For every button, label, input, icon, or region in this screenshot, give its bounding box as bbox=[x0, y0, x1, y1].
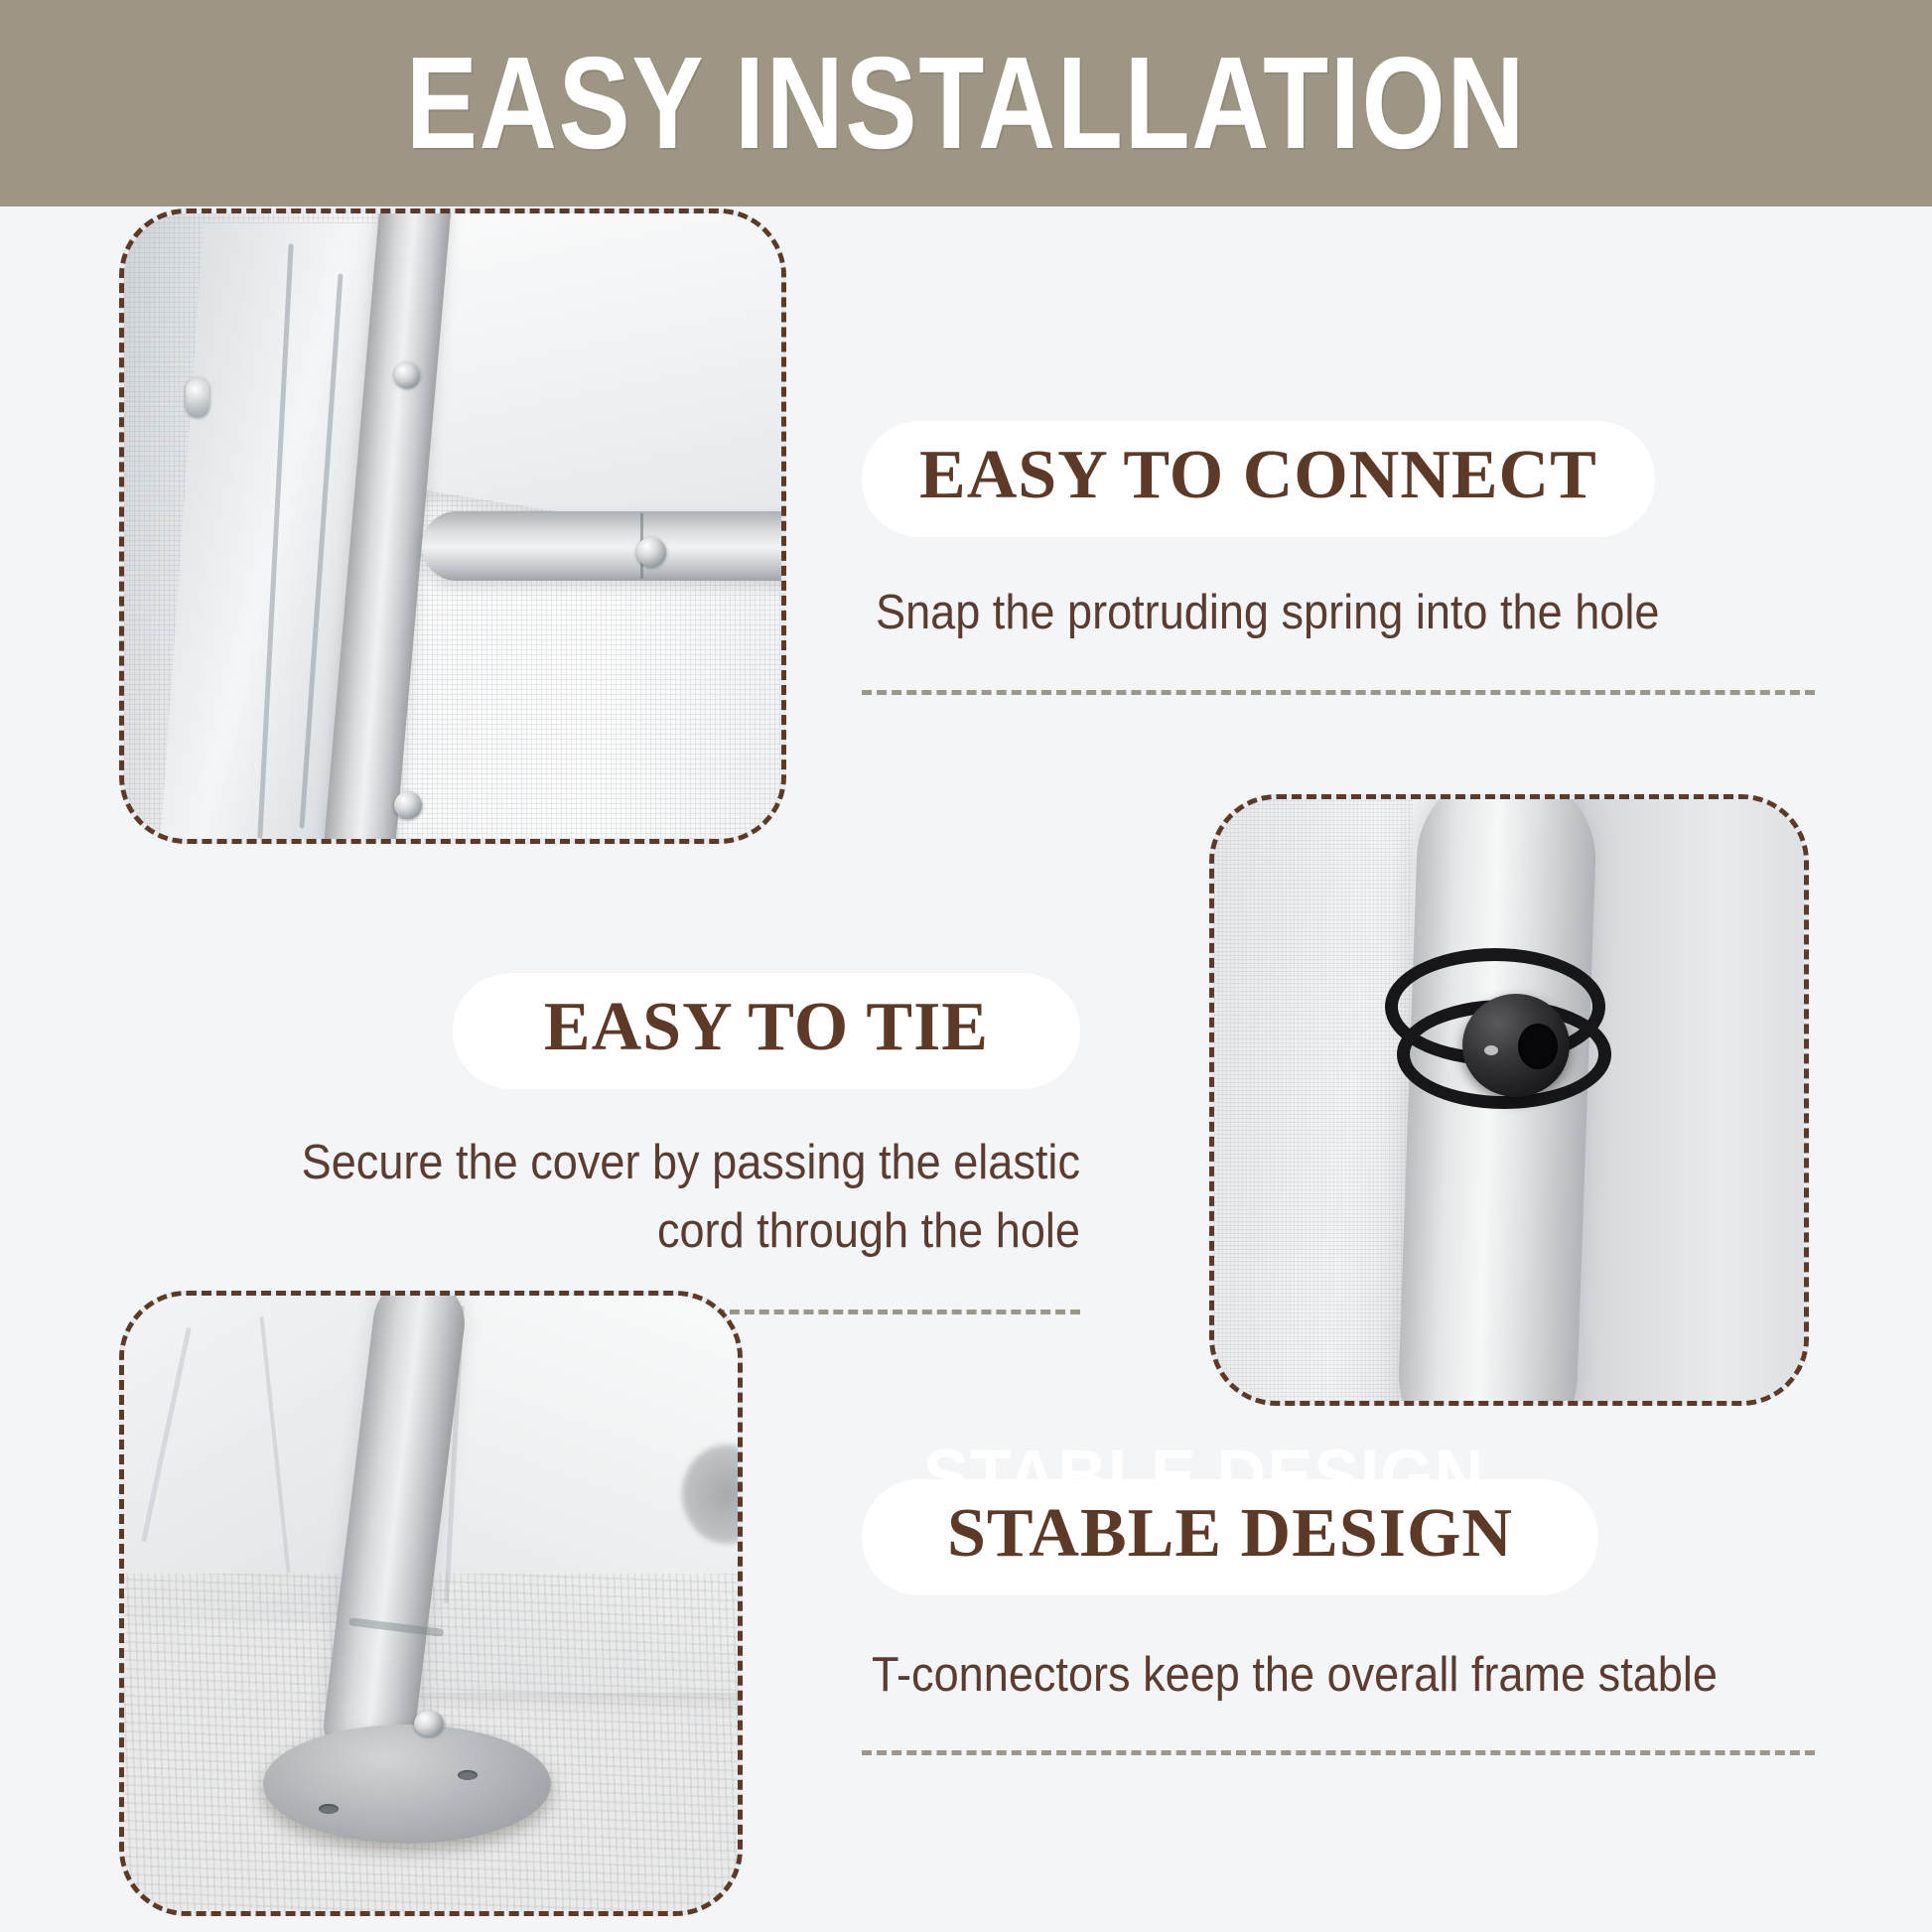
heading-pill-stable-design: STABLE DESIGN bbox=[862, 1479, 1598, 1594]
page-title: EASY INSTALLATION bbox=[406, 38, 1526, 169]
feature-description-line-2: cord through the hole bbox=[240, 1200, 1080, 1263]
section-divider bbox=[862, 1750, 1815, 1755]
background-shade bbox=[1572, 799, 1809, 1401]
photo-panel-easy-to-tie bbox=[1209, 794, 1809, 1406]
heading-pill-easy-to-connect: EASY TO CONNECT bbox=[862, 421, 1655, 536]
pole-foot-photo bbox=[124, 1296, 738, 1911]
feature-block-easy-to-tie: EASY TO TIE Secure the cover by passing … bbox=[167, 973, 1080, 1314]
base-plate-bolt-hole bbox=[458, 1770, 478, 1780]
cord-ball-toggle bbox=[1462, 994, 1570, 1097]
header-banner: EASY INSTALLATION bbox=[0, 0, 1932, 207]
heading-pill-easy-to-tie: EASY TO TIE bbox=[453, 973, 1080, 1088]
base-plate bbox=[263, 1725, 551, 1844]
toggle-highlight bbox=[1484, 1045, 1498, 1055]
photo-panel-easy-to-connect bbox=[119, 208, 786, 844]
screw-icon bbox=[394, 791, 422, 819]
feature-heading: STABLE DESIGN bbox=[947, 1499, 1513, 1569]
feature-heading: EASY TO CONNECT bbox=[919, 441, 1597, 510]
clip-fitting bbox=[186, 377, 209, 417]
feature-description: Snap the protruding spring into the hole bbox=[876, 582, 1758, 644]
section-divider bbox=[862, 690, 1815, 695]
horizontal-frame-pole bbox=[422, 511, 786, 581]
tarp-fabric-background bbox=[1214, 799, 1413, 1401]
infographic-page: EASY INSTALLATION EASY TO CONNECT Snap t… bbox=[0, 0, 1932, 1932]
photo-panel-stable-design bbox=[119, 1291, 743, 1916]
feature-description: T-connectors keep the overall frame stab… bbox=[872, 1644, 1757, 1707]
screw-icon bbox=[394, 362, 420, 388]
screw-icon bbox=[414, 1711, 444, 1736]
feature-block-easy-to-connect: EASY TO CONNECT Snap the protruding spri… bbox=[862, 421, 1835, 695]
feature-description-line-1: Secure the cover by passing the elastic bbox=[240, 1132, 1080, 1194]
connector-photo bbox=[124, 213, 781, 839]
screw-icon bbox=[636, 537, 666, 567]
elastic-cord-photo bbox=[1214, 799, 1804, 1401]
feature-heading: EASY TO TIE bbox=[544, 993, 989, 1062]
feature-block-stable-design: STABLE DESIGN STABLE DESIGN T-connectors… bbox=[862, 1479, 1835, 1755]
toggle-hole bbox=[1518, 1024, 1558, 1069]
base-plate-bolt-hole bbox=[319, 1804, 339, 1814]
